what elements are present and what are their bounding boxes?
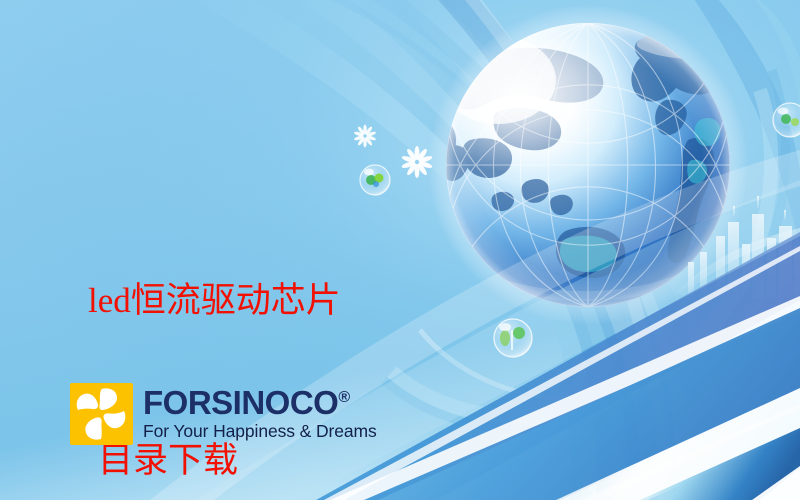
page-title: led恒流驱动芯片 目录下载 bbox=[88, 168, 341, 500]
bubble-corner bbox=[773, 103, 800, 137]
brand-logo: FORSINOCO® For Your Happiness & Dreams bbox=[70, 383, 377, 445]
brand-text: FORSINOCO® For Your Happiness & Dreams bbox=[143, 383, 377, 441]
forsinoco-pinwheel-mark bbox=[70, 383, 133, 445]
brand-name-text: FORSINOCO bbox=[143, 384, 338, 421]
pinwheel-icon bbox=[70, 383, 133, 445]
page-title-line-1: led恒流驱动芯片 bbox=[88, 274, 341, 327]
brand-tagline: For Your Happiness & Dreams bbox=[143, 421, 377, 441]
poster-canvas: led恒流驱动芯片 目录下载 FORSINOCO® For Your Happi… bbox=[0, 0, 800, 500]
registered-trademark-icon: ® bbox=[338, 389, 349, 406]
bubble-leaf bbox=[494, 319, 532, 357]
brand-name: FORSINOCO® bbox=[143, 386, 377, 420]
bubble-globe bbox=[360, 165, 390, 195]
